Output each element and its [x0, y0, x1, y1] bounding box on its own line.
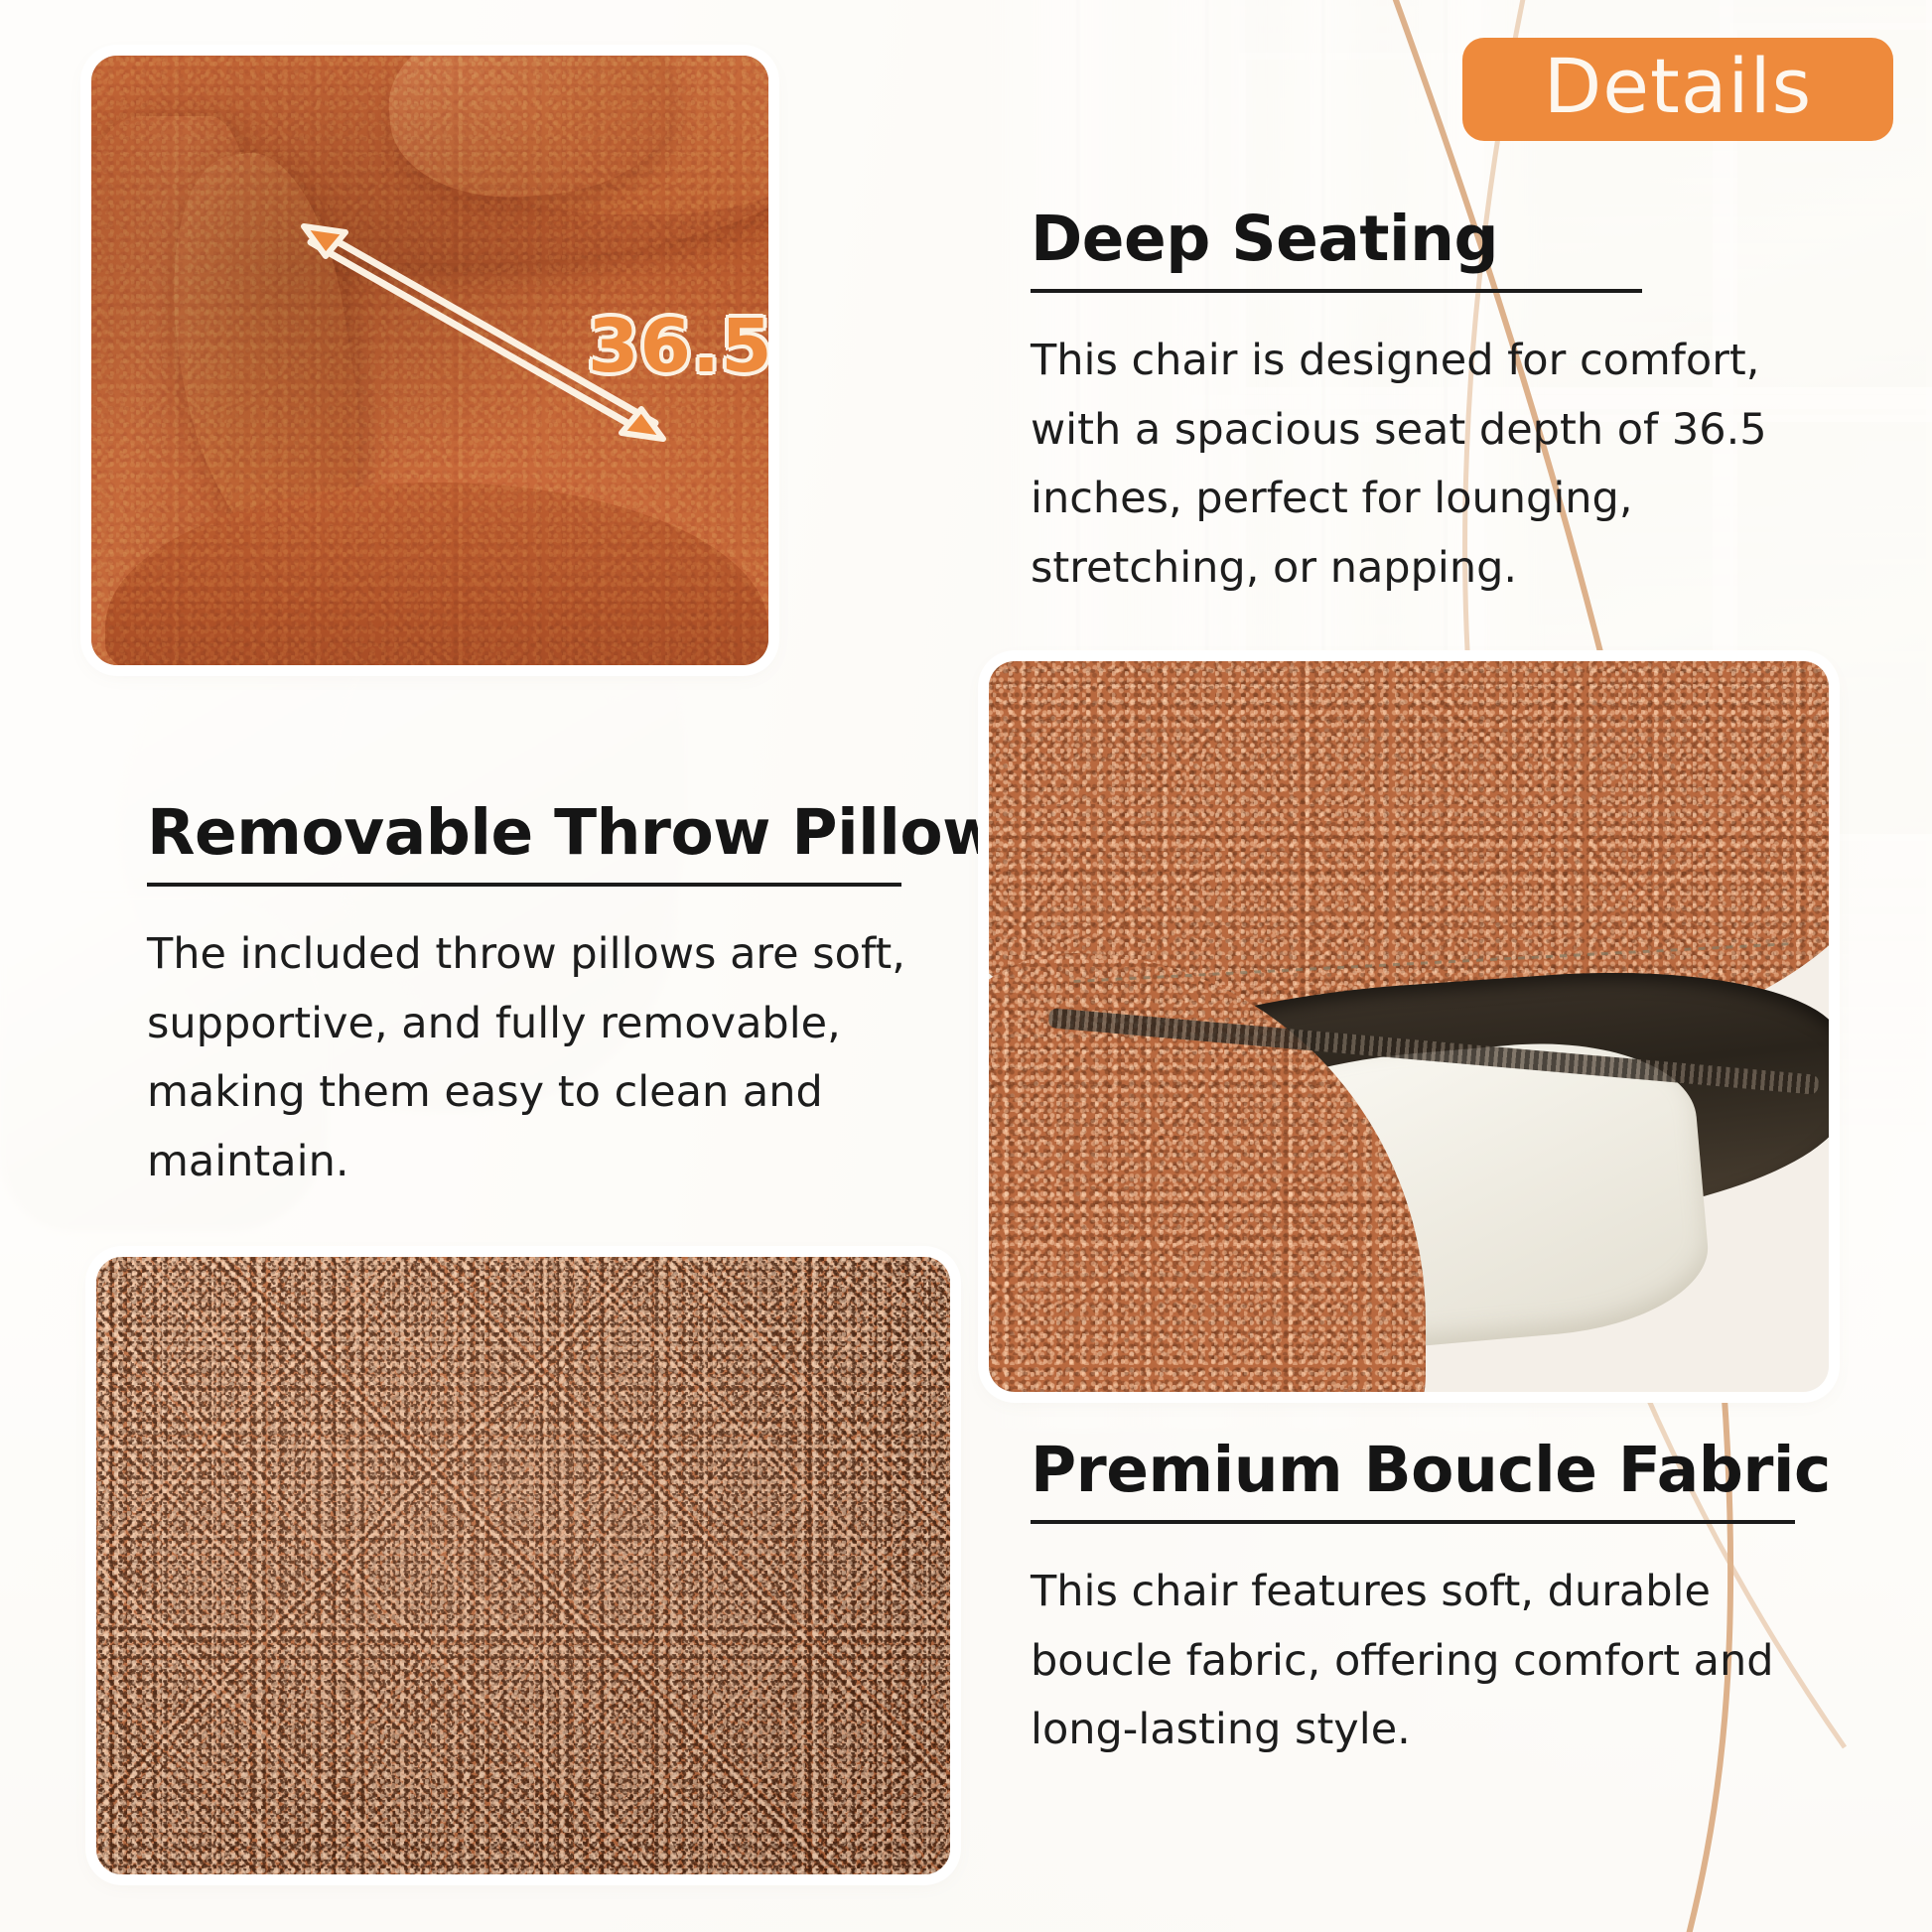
details-infographic: Details 36.5” — [0, 0, 1932, 1932]
section-title: Removable Throw Pillows — [147, 800, 931, 866]
section-body: The included throw pillows are soft, sup… — [147, 887, 931, 1197]
pillow-zipper-photo — [989, 661, 1829, 1392]
chair-seat-photo: 36.5” — [91, 56, 768, 665]
pillow-zipper-photo-card — [989, 661, 1829, 1392]
boucle-swatch-photo — [96, 1257, 950, 1874]
boucle-swatch-photo-card — [96, 1257, 950, 1874]
details-badge: Details — [1462, 38, 1893, 141]
section-body: This chair is designed for comfort, with… — [1031, 293, 1825, 604]
swatch-shading — [96, 1257, 950, 1874]
seat-depth-label: 36.5” — [588, 304, 768, 389]
section-body: This chair features soft, durable boucle… — [1031, 1524, 1825, 1765]
details-badge-label: Details — [1544, 49, 1812, 130]
section-premium-boucle-fabric: Premium Boucle Fabric This chair feature… — [1031, 1438, 1825, 1765]
chair-seat-photo-card: 36.5” — [91, 56, 768, 665]
section-deep-seating: Deep Seating This chair is designed for … — [1031, 207, 1825, 604]
section-title: Deep Seating — [1031, 207, 1825, 272]
section-title: Premium Boucle Fabric — [1031, 1438, 1825, 1503]
section-removable-throw-pillows: Removable Throw Pillows The included thr… — [147, 800, 931, 1197]
